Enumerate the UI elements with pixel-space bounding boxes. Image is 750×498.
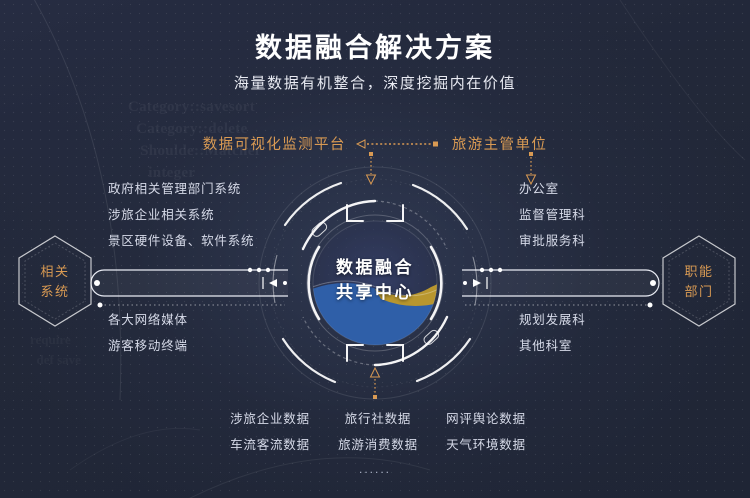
list-item: 车流客流数据 <box>216 432 324 458</box>
center-line2: 共享中心 <box>255 280 495 305</box>
hexagon-functional-departments[interactable]: 职能 部门 <box>656 232 742 332</box>
hexagon-right-line2: 部门 <box>684 282 713 302</box>
right-top-department-list: 办公室 监督管理科 审批服务科 <box>519 176 586 254</box>
list-item: 审批服务科 <box>519 228 586 254</box>
list-item: 涉旅企业数据 <box>216 406 324 432</box>
bottom-ellipsis: ...... <box>0 462 750 476</box>
dotted-arrow-left-icon <box>356 137 442 151</box>
center-line1: 数据融合 <box>255 255 495 280</box>
hexagon-related-systems[interactable]: 相关 系统 <box>12 232 98 332</box>
left-bottom-source-list: 各大网络媒体 游客移动终端 <box>108 307 188 359</box>
hexagon-left-line1: 相关 <box>40 262 69 282</box>
center-hub[interactable]: 数据融合 共享中心 <box>255 163 495 403</box>
list-item: 办公室 <box>519 176 586 202</box>
diagram-canvas: Category::savesort Category::delete Shou… <box>0 0 750 498</box>
list-item: 各大网络媒体 <box>108 307 188 333</box>
list-item: 规划发展科 <box>519 307 586 333</box>
list-item: 天气环境数据 <box>432 432 540 458</box>
page-subtitle: 海量数据有机整合，深度挖掘内在价值 <box>0 72 750 93</box>
list-item: 旅游消费数据 <box>324 432 432 458</box>
list-item: 景区硬件设备、软件系统 <box>108 228 254 254</box>
hexagon-right-line1: 职能 <box>684 262 713 282</box>
background-code-watermark-2: require def save <box>30 330 81 370</box>
top-label-row: 数据可视化监测平台 旅游主管单位 <box>0 133 750 154</box>
list-item: 其他科室 <box>519 333 586 359</box>
hexagon-left-line2: 系统 <box>40 282 69 302</box>
center-hub-label: 数据融合 共享中心 <box>255 255 495 305</box>
right-bottom-department-list: 规划发展科 其他科室 <box>519 307 586 359</box>
list-item: 监督管理科 <box>519 202 586 228</box>
table-row: 车流客流数据 旅游消费数据 天气环境数据 <box>216 432 541 458</box>
list-item: 网评舆论数据 <box>432 406 540 432</box>
list-item: 旅行社数据 <box>324 406 432 432</box>
table-row: 涉旅企业数据 旅行社数据 网评舆论数据 <box>216 406 541 432</box>
left-top-source-list: 政府相关管理部门系统 涉旅企业相关系统 景区硬件设备、软件系统 <box>108 176 254 254</box>
list-item: 政府相关管理部门系统 <box>108 176 254 202</box>
label-visualization-platform: 数据可视化监测平台 <box>203 133 346 154</box>
list-item: 游客移动终端 <box>108 333 188 359</box>
bottom-data-grid: 涉旅企业数据 旅行社数据 网评舆论数据 车流客流数据 旅游消费数据 天气环境数据 <box>216 406 541 458</box>
page-title: 数据融合解决方案 <box>0 26 750 65</box>
label-tourism-authority: 旅游主管单位 <box>452 133 547 154</box>
list-item: 涉旅企业相关系统 <box>108 202 254 228</box>
